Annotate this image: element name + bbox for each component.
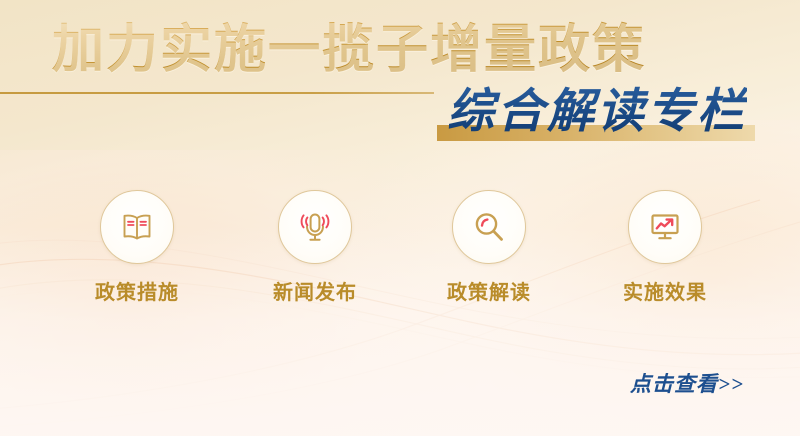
category-nav: 政策措施 新闻发布 — [0, 190, 800, 320]
microphone-icon — [295, 207, 335, 247]
nav-item-implementation-effect[interactable]: 实施效果 — [590, 190, 740, 305]
banner-headline: 加力实施一揽子增量政策 — [52, 18, 752, 84]
nav-label: 新闻发布 — [240, 276, 390, 305]
nav-label: 政策解读 — [414, 276, 564, 305]
open-book-icon — [117, 207, 157, 247]
chart-monitor-icon — [645, 207, 685, 247]
click-to-view-link[interactable]: 点击查看>> — [630, 368, 744, 398]
nav-item-policy-interpretation[interactable]: 政策解读 — [414, 190, 564, 305]
policy-banner: 加力实施一揽子增量政策 综合解读专栏 政策措施 — [0, 0, 800, 436]
nav-icon-circle[interactable] — [278, 190, 352, 264]
gold-divider — [0, 92, 434, 94]
nav-item-policy-measures[interactable]: 政策措施 — [62, 190, 212, 305]
nav-label: 政策措施 — [62, 276, 212, 305]
banner-subtitle: 综合解读专栏 — [447, 83, 747, 141]
magnifier-icon — [469, 207, 509, 247]
nav-item-news-release[interactable]: 新闻发布 — [240, 190, 390, 305]
subtitle-block: 综合解读专栏 — [437, 86, 767, 144]
nav-icon-circle[interactable] — [452, 190, 526, 264]
nav-icon-circle[interactable] — [628, 190, 702, 264]
nav-label: 实施效果 — [590, 276, 740, 305]
nav-icon-circle[interactable] — [100, 190, 174, 264]
